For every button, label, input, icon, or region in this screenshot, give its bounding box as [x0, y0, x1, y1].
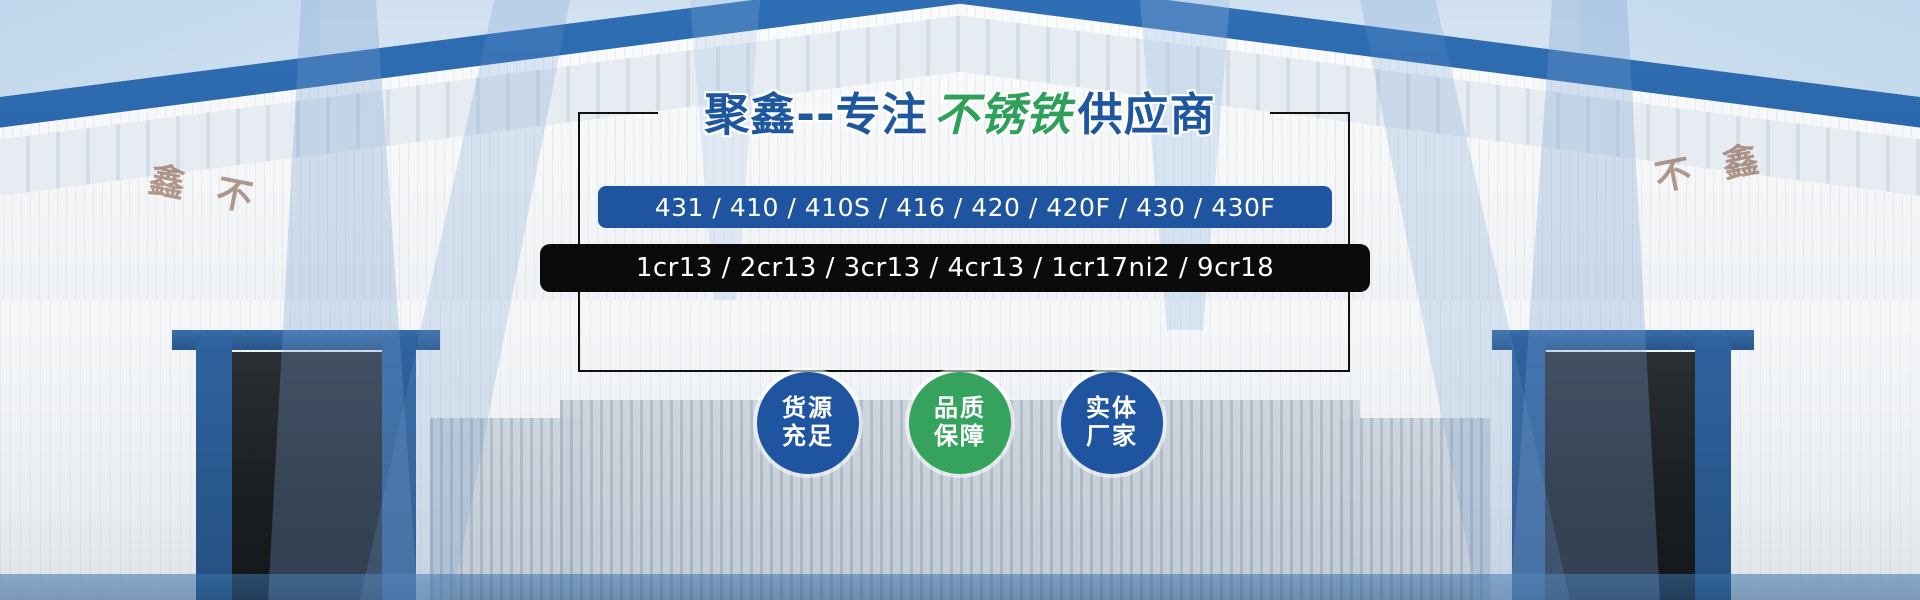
- factory-badge-line2: 厂家: [1086, 423, 1138, 451]
- title-segment-2: 不锈铁: [934, 88, 1072, 141]
- banner-content: 聚鑫--专注不锈铁供应商 431 / 410 / 410S / 416 / 42…: [0, 0, 1920, 600]
- supply-badge: 货源 充足: [757, 372, 859, 474]
- supply-badge-line2: 充足: [782, 423, 834, 451]
- promo-banner: 鑫 不 不 鑫 聚鑫--专注不锈铁供应商 431 / 410 / 410S / …: [0, 0, 1920, 600]
- decorative-bracket-frame: [578, 112, 1350, 372]
- quality-badge-line1: 品质: [934, 395, 986, 423]
- factory-badge: 实体 厂家: [1061, 372, 1163, 474]
- feature-badge-group: 货源 充足 品质 保障 实体 厂家: [0, 372, 1920, 474]
- factory-badge-line1: 实体: [1086, 395, 1138, 423]
- quality-badge-line2: 保障: [934, 423, 986, 451]
- title-segment-1: 聚鑫--专注: [704, 88, 927, 141]
- banner-title: 聚鑫--专注不锈铁供应商: [0, 78, 1920, 143]
- supply-badge-line1: 货源: [782, 395, 834, 423]
- grade-bar-primary: 431 / 410 / 410S / 416 / 420 / 420F / 43…: [598, 186, 1332, 228]
- quality-badge: 品质 保障: [909, 372, 1011, 474]
- title-segment-3: 供应商: [1078, 88, 1216, 141]
- grade-bar-secondary: 1cr13 / 2cr13 / 3cr13 / 4cr13 / 1cr17ni2…: [540, 244, 1370, 292]
